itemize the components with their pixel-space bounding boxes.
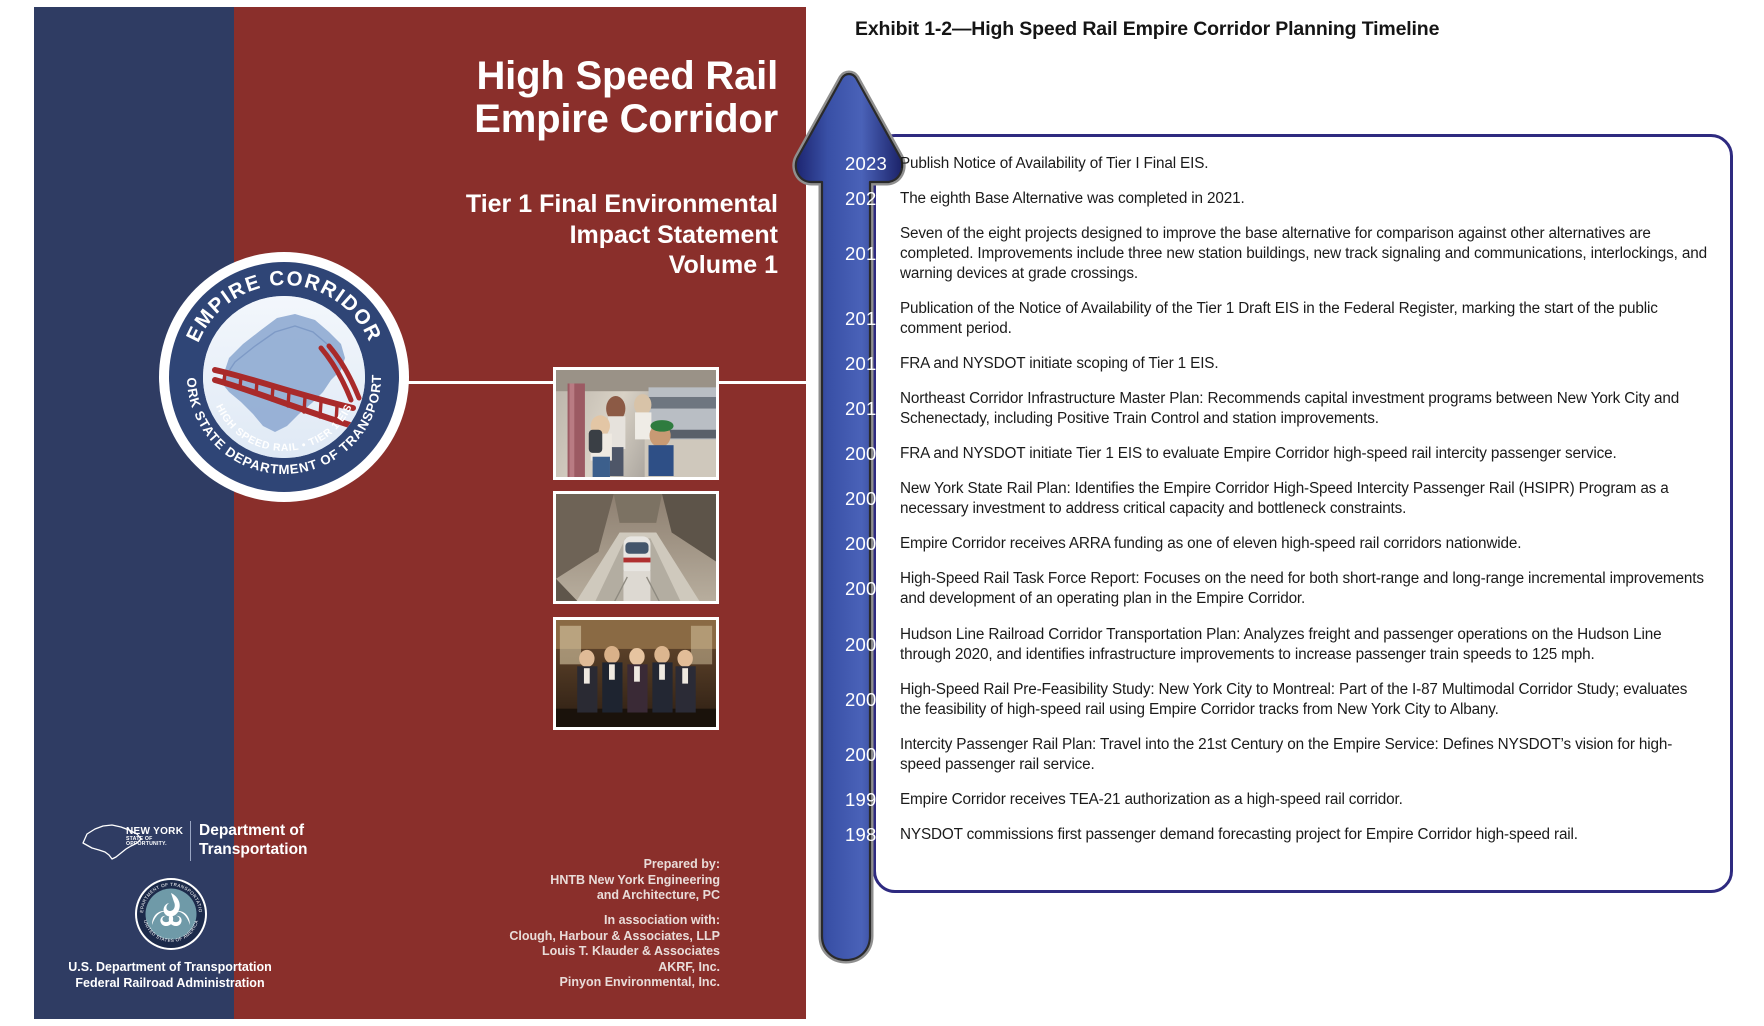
timeline-row-description: Intercity Passenger Rail Plan: Travel in… (900, 735, 1712, 775)
association-line-2: Louis T. Klauder & Associates (424, 944, 720, 960)
nysdot-wordmark: NEW YORK STATE OF OPPORTUNITY. (126, 827, 183, 847)
exhibit-title: Exhibit 1-2—High Speed Rail Empire Corri… (855, 18, 1439, 41)
timeline-row: 2000Intercity Passenger Rail Plan: Trave… (873, 735, 1733, 775)
timeline-row-description: New York State Rail Plan: Identifies the… (900, 479, 1712, 519)
timeline-row-year: 2004 (835, 689, 897, 711)
nysdot-ny-line-3: OPPORTUNITY. (126, 842, 183, 847)
timeline-row-description: Publication of the Notice of Availabilit… (900, 299, 1712, 339)
association-line-1: Clough, Harbour & Associates, LLP (424, 929, 720, 945)
nysdot-dot-line-2: Transportation (199, 841, 308, 860)
timeline-row: 2014Publication of the Notice of Availab… (873, 299, 1733, 339)
timeline-row-description: Publish Notice of Availability of Tier I… (900, 154, 1712, 174)
usdot-seal-icon: DEPARTMENT OF TRANSPORTATION UNITED STAT… (134, 877, 208, 951)
prepared-by-line-2: and Architecture, PC (424, 888, 720, 904)
timeline-row: 2009FRA and NYSDOT initiate Tier 1 EIS t… (873, 444, 1733, 464)
timeline-row-year: 2010 (835, 398, 897, 420)
page-root: High Speed Rail Empire Corridor Tier 1 F… (0, 0, 1764, 1026)
cover-photo-officials-group (553, 617, 719, 730)
timeline-row: 2005Hudson Line Railroad Corridor Transp… (873, 625, 1733, 665)
fra-caption-line-1: U.S. Department of Transportation (44, 960, 296, 976)
timeline-row: 1989NYSDOT commissions first passenger d… (873, 825, 1733, 845)
cover-title: High Speed Rail Empire Corridor (260, 55, 778, 141)
timeline-row-description: NYSDOT commissions first passenger deman… (900, 825, 1712, 845)
nysdot-department-text: Department of Transportation (199, 822, 308, 860)
timeline-row-year: 2005 (835, 634, 897, 656)
timeline-row: 1998Empire Corridor receives TEA-21 auth… (873, 790, 1733, 810)
timeline-rows: 2023Publish Notice of Availability of Ti… (873, 134, 1733, 893)
cover-photo-train-in-gorge (553, 491, 719, 604)
cover-subtitle-line-2: Impact Statement (260, 220, 778, 251)
timeline-row: 2009Empire Corridor receives ARRA fundin… (873, 534, 1733, 554)
prepared-by-label: Prepared by: (424, 857, 720, 873)
timeline-row: 2010Northeast Corridor Infrastructure Ma… (873, 389, 1733, 429)
cover-spine-panel (34, 7, 234, 1019)
nysdot-logo: NEW YORK STATE OF OPPORTUNITY. Departmen… (79, 819, 261, 863)
timeline-row: 2010FRA and NYSDOT initiate scoping of T… (873, 354, 1733, 374)
timeline-row-year: 2006 (835, 578, 897, 600)
timeline-row-year: 2017 (835, 243, 897, 265)
timeline-row: 2009New York State Rail Plan: Identifies… (873, 479, 1733, 519)
fra-caption: U.S. Department of Transportation Federa… (44, 960, 296, 991)
timeline-row: 2023Publish Notice of Availability of Ti… (873, 154, 1733, 174)
timeline-row: 2004High-Speed Rail Pre-Feasibility Stud… (873, 680, 1733, 720)
timeline-row-description: Empire Corridor receives ARRA funding as… (900, 534, 1712, 554)
empire-corridor-seal: EMPIRE CORRIDOR NEW YORK STATE DEPARTMEN… (162, 255, 406, 499)
cover-title-line-2: Empire Corridor (260, 98, 778, 141)
prepared-by-line-1: HNTB New York Engineering (424, 873, 720, 889)
timeline-row-year: 2000 (835, 744, 897, 766)
nysdot-logo-divider (190, 821, 191, 861)
svg-text:EMPIRE CORRIDOR: EMPIRE CORRIDOR (182, 267, 386, 346)
timeline-row-description: The eighth Base Alternative was complete… (900, 189, 1712, 209)
cover-subtitle-line-1: Tier 1 Final Environmental (260, 189, 778, 220)
association-line-3: AKRF, Inc. (424, 960, 720, 976)
timeline-row-description: High-Speed Rail Pre-Feasibility Study: N… (900, 680, 1712, 720)
association-line-4: Pinyon Environmental, Inc. (424, 975, 720, 991)
timeline-row-year: 2010 (835, 353, 897, 375)
timeline-row-year: 2014 (835, 308, 897, 330)
report-cover: High Speed Rail Empire Corridor Tier 1 F… (34, 7, 806, 1019)
timeline-row-year: 1998 (835, 789, 897, 811)
timeline-row-year: 2023 (835, 153, 897, 175)
timeline-exhibit: Exhibit 1-2—High Speed Rail Empire Corri… (846, 0, 1764, 1026)
timeline-row-description: Seven of the eight projects designed to … (900, 224, 1712, 284)
timeline-row-year: 2009 (835, 533, 897, 555)
timeline-row-description: FRA and NYSDOT initiate scoping of Tier … (900, 354, 1712, 374)
cover-title-line-1: High Speed Rail (260, 55, 778, 98)
timeline-row-year: 1989 (835, 824, 897, 846)
timeline-row-description: High-Speed Rail Task Force Report: Focus… (900, 569, 1712, 609)
timeline-row-year: 2009 (835, 488, 897, 510)
timeline-row-year: 2009 (835, 443, 897, 465)
association-label: In association with: (424, 913, 720, 929)
nysdot-dot-line-1: Department of (199, 822, 308, 841)
timeline-row: 2021The eighth Base Alternative was comp… (873, 189, 1733, 209)
cover-photo-station-passengers (553, 367, 719, 480)
seal-arc-top-text: EMPIRE CORRIDOR (182, 267, 386, 346)
fra-caption-line-2: Federal Railroad Administration (44, 976, 296, 992)
timeline-row: 2006High-Speed Rail Task Force Report: F… (873, 569, 1733, 609)
timeline-row-description: Hudson Line Railroad Corridor Transporta… (900, 625, 1712, 665)
timeline-row-description: Northeast Corridor Infrastructure Master… (900, 389, 1712, 429)
timeline-row-year: 2021 (835, 188, 897, 210)
cover-prepared-by-block: Prepared by: HNTB New York Engineering a… (424, 857, 720, 991)
timeline-row-description: FRA and NYSDOT initiate Tier 1 EIS to ev… (900, 444, 1712, 464)
timeline-row-description: Empire Corridor receives TEA-21 authoriz… (900, 790, 1712, 810)
timeline-row: 2017Seven of the eight projects designed… (873, 224, 1733, 284)
